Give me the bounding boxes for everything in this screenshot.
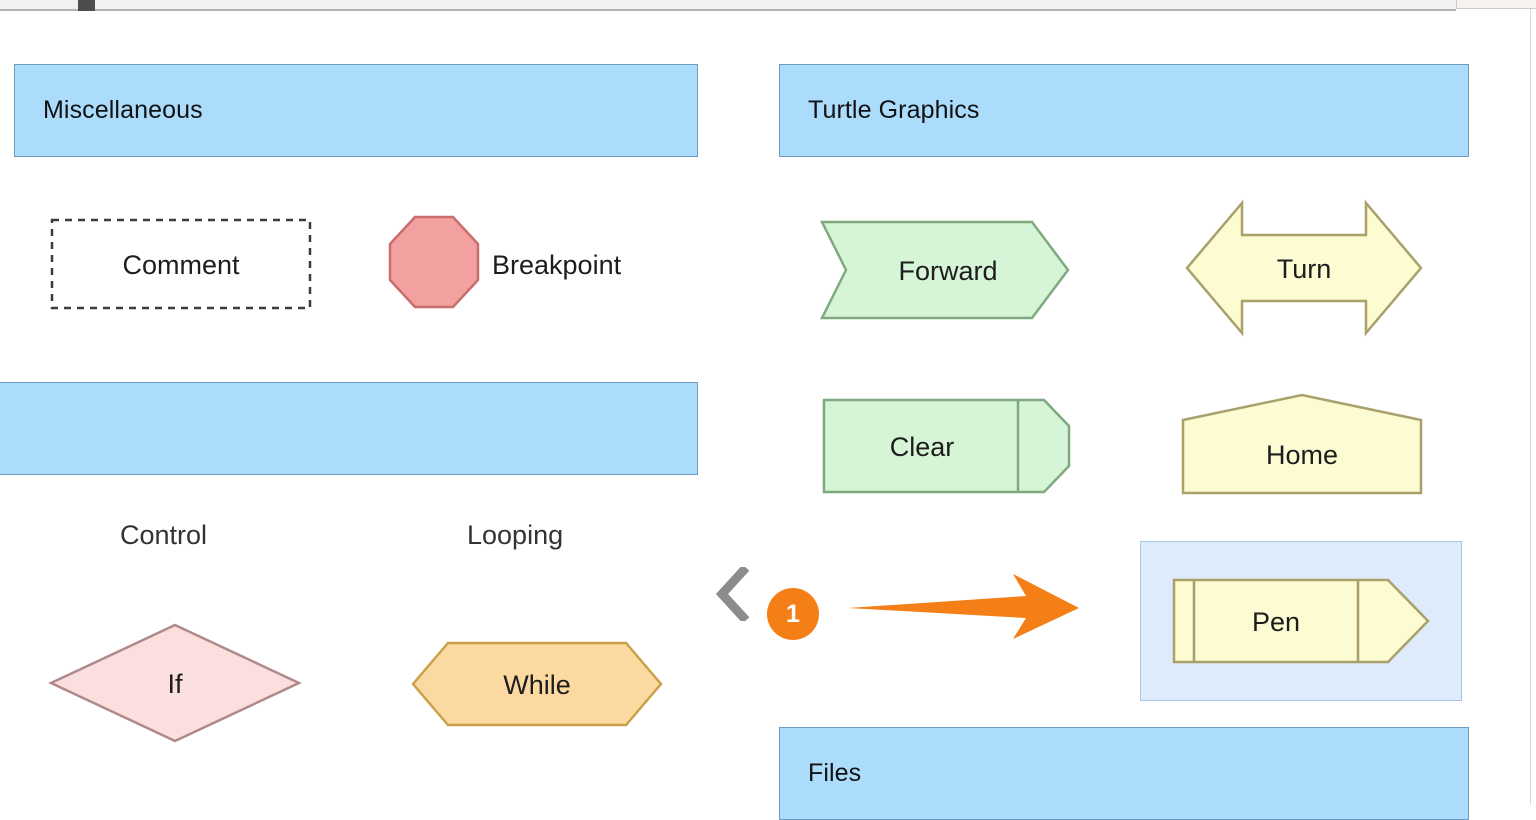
annotation-step-number: 1 — [786, 602, 800, 627]
palette-block-breakpoint-label: Breakpoint — [492, 250, 621, 281]
palette-block-comment[interactable]: Comment — [50, 218, 312, 310]
horizontal-scrollbar-track[interactable] — [0, 0, 1456, 11]
group-header-miscellaneous-label: Miscellaneous — [15, 96, 203, 125]
palette-block-pen-label: Pen — [1252, 607, 1300, 637]
right-panel-header-strip — [1456, 0, 1536, 9]
application-canvas: Miscellaneous Turtle Graphics Files Cont… — [0, 0, 1536, 805]
pen-arrow-shape — [1174, 580, 1428, 662]
sublabel-looping: Looping — [467, 520, 563, 551]
palette-block-home-label: Home — [1266, 440, 1338, 470]
sublabel-control: Control — [120, 520, 207, 551]
palette-block-turn-label: Turn — [1277, 254, 1332, 284]
palette-block-while-label: While — [503, 670, 571, 700]
right-panel-divider — [1530, 9, 1531, 805]
group-header-turtle-graphics[interactable]: Turtle Graphics — [779, 64, 1469, 157]
group-header-files-label: Files — [780, 759, 861, 788]
group-header-logic[interactable] — [0, 382, 698, 475]
chevron-left-icon — [716, 567, 750, 621]
group-header-miscellaneous[interactable]: Miscellaneous — [14, 64, 698, 157]
palette-block-pen[interactable]: Pen — [1172, 578, 1430, 664]
group-header-files[interactable]: Files — [779, 727, 1469, 820]
palette-block-if-label: If — [167, 669, 183, 699]
palette-block-home[interactable]: Home — [1180, 392, 1424, 496]
annotation-arrow-shape — [848, 574, 1079, 639]
palette-block-turn[interactable]: Turn — [1184, 200, 1424, 336]
group-header-turtle-graphics-label: Turtle Graphics — [780, 96, 979, 125]
palette-block-if[interactable]: If — [48, 622, 302, 744]
palette-block-breakpoint[interactable] — [388, 215, 480, 309]
horizontal-scrollbar-thumb[interactable] — [78, 0, 95, 11]
palette-block-clear[interactable]: Clear — [822, 398, 1072, 494]
arrow-right-icon — [848, 570, 1080, 642]
palette-block-clear-label: Clear — [890, 432, 955, 462]
palette-block-forward[interactable]: Forward — [820, 220, 1070, 320]
palette-block-forward-label: Forward — [898, 256, 997, 286]
breakpoint-octagon — [390, 217, 478, 307]
palette-block-while[interactable]: While — [410, 640, 664, 728]
palette-block-comment-label: Comment — [122, 250, 240, 280]
annotation-step-badge: 1 — [767, 588, 819, 640]
